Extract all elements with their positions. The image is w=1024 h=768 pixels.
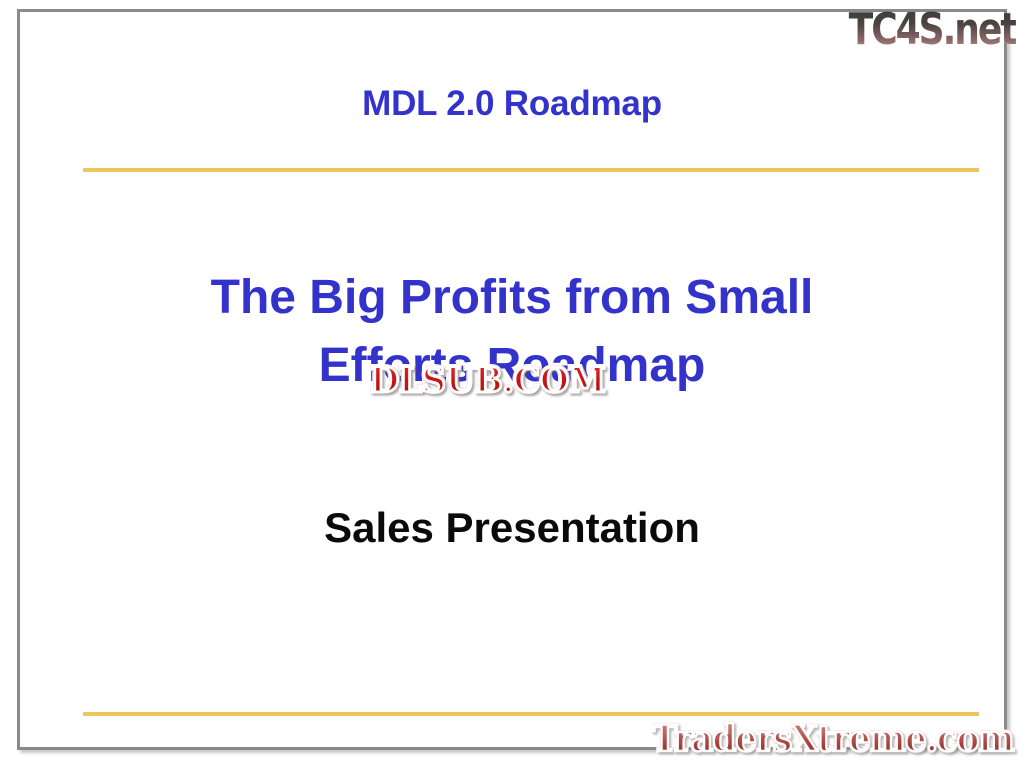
divider-top — [83, 168, 979, 172]
headline-line-2: Efforts Roadmap — [80, 332, 944, 400]
headline: The Big Profits from Small Efforts Roadm… — [80, 264, 944, 400]
divider-bottom — [83, 712, 979, 716]
headline-line-1: The Big Profits from Small — [80, 264, 944, 332]
page-title: MDL 2.0 Roadmap — [20, 84, 1004, 124]
subheading: Sales Presentation — [80, 504, 944, 552]
slide-frame: MDL 2.0 Roadmap The Big Profits from Sma… — [17, 9, 1007, 750]
